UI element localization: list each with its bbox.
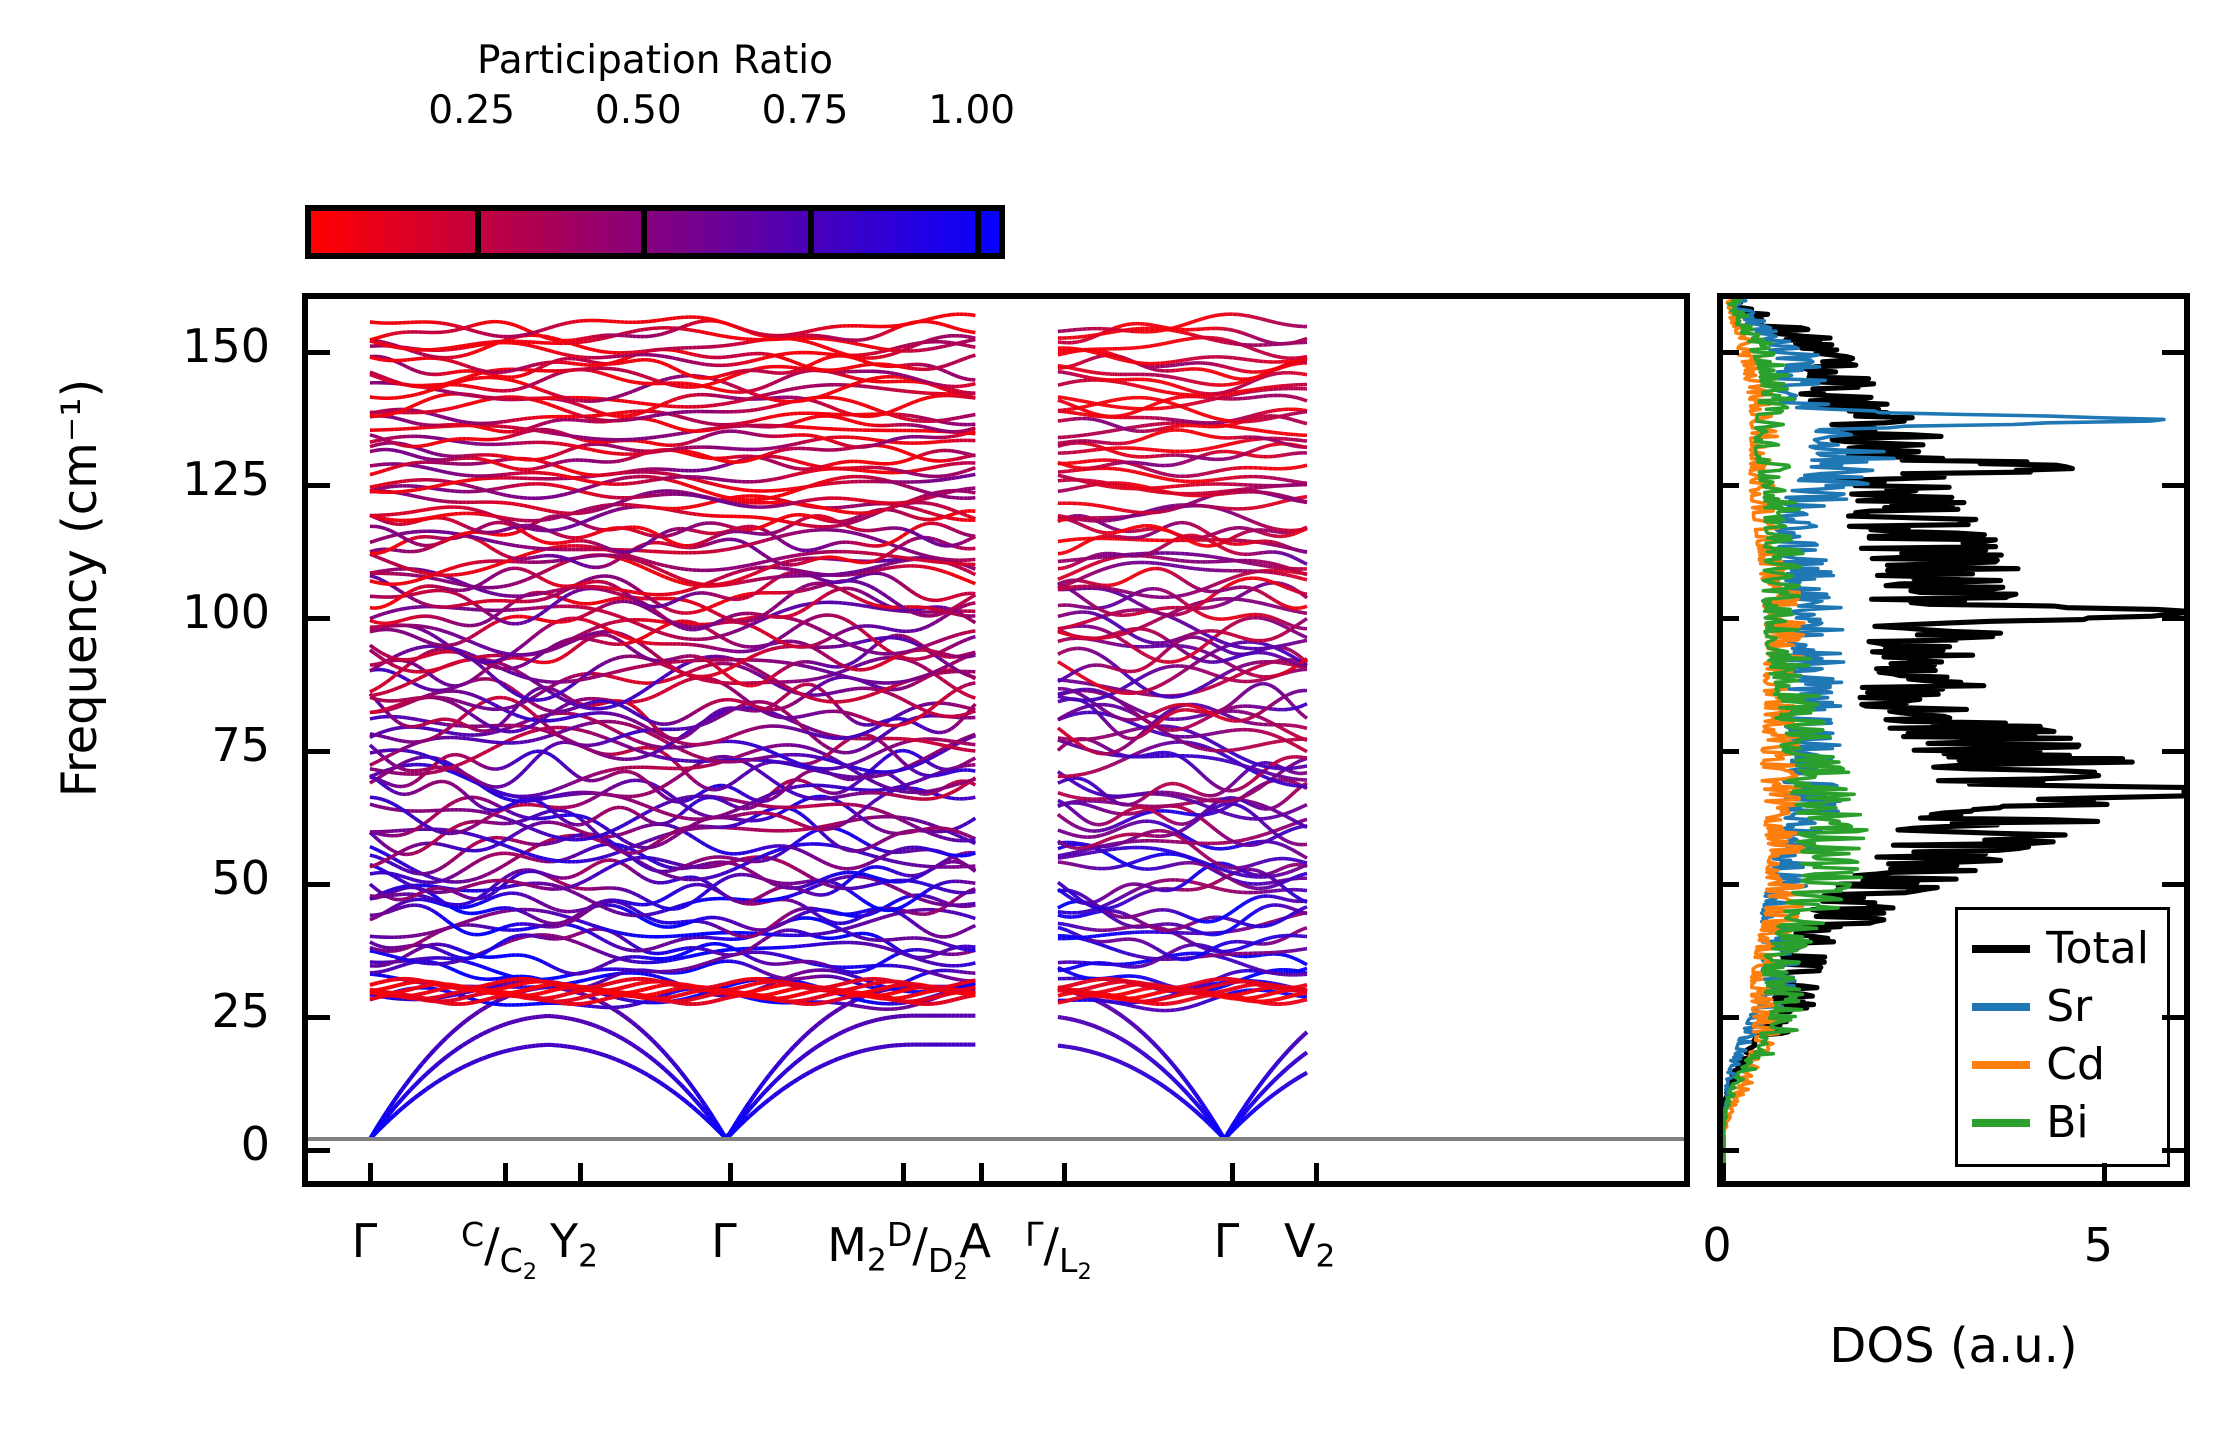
band-y-tick-mark: [308, 1148, 330, 1153]
dos-plot[interactable]: TotalSrCdBi: [1717, 293, 2190, 1187]
band-x-tick-label: A: [959, 1218, 990, 1264]
band-x-tick-mark: [368, 1163, 373, 1187]
dos-y-tick-mark-left: [1723, 1015, 1739, 1020]
dos-y-tick-mark: [2162, 1148, 2184, 1153]
colorbar-tick-mark: [975, 211, 981, 253]
legend-label: Total: [2046, 927, 2149, 971]
legend-label: Bi: [2046, 1101, 2088, 1145]
band-y-tick-mark: [308, 350, 330, 355]
legend-item-sr[interactable]: Sr: [1972, 978, 2149, 1036]
colorbar[interactable]: [305, 205, 1005, 259]
band-x-tick-mark: [1230, 1163, 1235, 1187]
band-y-tick-label: 125: [182, 452, 270, 506]
colorbar-title: Participation Ratio: [305, 38, 1005, 84]
band-y-tick-labels: 0255075100125150: [0, 293, 290, 1187]
dos-y-tick-mark: [2162, 749, 2184, 754]
dos-x-tick-mark: [2102, 1163, 2107, 1187]
band-x-tick-mark: [503, 1163, 508, 1187]
band-x-tick-mark: [1314, 1163, 1319, 1187]
legend-line-swatch: [1972, 1119, 2030, 1127]
band-x-tick-mark: [728, 1163, 733, 1187]
legend-item-cd[interactable]: Cd: [1972, 1036, 2149, 1094]
dos-x-axis-label: DOS (a.u.): [1717, 1318, 2190, 1374]
dos-x-tick-label: 0: [1702, 1218, 1731, 1272]
band-x-tick-label: Γ: [1214, 1218, 1240, 1264]
band-x-tick-label: Γ: [352, 1218, 378, 1264]
dos-y-tick-mark: [2162, 350, 2184, 355]
dos-y-tick-mark: [2162, 616, 2184, 621]
band-x-tick-label: Y2: [550, 1218, 598, 1273]
colorbar-gradient: [311, 211, 999, 253]
legend-item-bi[interactable]: Bi: [1972, 1094, 2149, 1152]
dos-y-tick-mark: [2162, 1015, 2184, 1020]
colorbar-tick-mark: [808, 211, 814, 253]
band-y-tick-label: 50: [211, 851, 270, 905]
dos-y-tick-mark-left: [1723, 350, 1739, 355]
colorbar-tick-labels: 0.250.500.751.00: [305, 88, 1005, 136]
band-y-tick-label: 75: [211, 718, 270, 772]
band-y-tick-label: 0: [241, 1117, 270, 1171]
colorbar-tick-mark: [641, 211, 647, 253]
band-y-tick-mark: [308, 483, 330, 488]
band-y-tick-label: 25: [211, 984, 270, 1038]
band-x-tick-label: M2D/D2: [827, 1218, 967, 1284]
band-y-tick-mark: [308, 749, 330, 754]
legend-item-total[interactable]: Total: [1972, 920, 2149, 978]
colorbar-tick-label: 0.25: [428, 88, 515, 133]
figure-canvas: Participation Ratio 0.250.500.751.00 025…: [0, 0, 2222, 1455]
legend-label: Cd: [2046, 1043, 2105, 1087]
band-x-tick-label: Γ/L2: [1025, 1218, 1092, 1284]
colorbar-tick-mark: [475, 211, 481, 253]
legend-line-swatch: [1972, 1003, 2030, 1011]
band-y-tick-mark: [308, 1015, 330, 1020]
band-structure-plot[interactable]: [302, 293, 1690, 1187]
colorbar-tick-label: 1.00: [928, 88, 1015, 133]
dos-x-tick-label: 5: [2084, 1218, 2113, 1272]
dos-x-tick-labels: 05: [1717, 1218, 2190, 1288]
band-structure-curves: [308, 299, 1684, 1181]
band-x-tick-label: C/C2: [461, 1218, 537, 1284]
band-x-tick-mark: [901, 1163, 906, 1187]
legend-line-swatch: [1972, 1061, 2030, 1069]
band-y-axis-label: Frequency (cm⁻¹): [52, 208, 108, 968]
dos-legend[interactable]: TotalSrCdBi: [1955, 907, 2170, 1167]
dos-y-tick-mark-left: [1723, 616, 1739, 621]
dos-y-tick-mark: [2162, 483, 2184, 488]
dos-x-tick-mark: [1721, 1163, 1726, 1187]
dos-y-tick-mark-left: [1723, 882, 1739, 887]
band-x-tick-labels: ΓC/C2Y2ΓM2D/D2AΓ/L2ΓV2: [302, 1218, 1690, 1328]
band-y-tick-mark: [308, 882, 330, 887]
legend-line-swatch: [1972, 945, 2030, 953]
band-x-tick-mark: [578, 1163, 583, 1187]
band-x-tick-mark: [1062, 1163, 1067, 1187]
band-y-tick-mark: [308, 616, 330, 621]
band-x-tick-label: V2: [1284, 1218, 1335, 1273]
band-y-tick-label: 100: [182, 585, 270, 639]
colorbar-tick-label: 0.50: [595, 88, 682, 133]
colorbar-tick-label: 0.75: [762, 88, 849, 133]
dos-y-tick-mark-left: [1723, 1148, 1739, 1153]
band-y-tick-label: 150: [182, 319, 270, 373]
band-x-tick-label: Γ: [711, 1218, 737, 1264]
dos-y-tick-mark: [2162, 882, 2184, 887]
legend-label: Sr: [2046, 985, 2092, 1029]
dos-y-tick-mark-left: [1723, 749, 1739, 754]
band-x-tick-mark: [979, 1163, 984, 1187]
dos-y-tick-mark-left: [1723, 483, 1739, 488]
